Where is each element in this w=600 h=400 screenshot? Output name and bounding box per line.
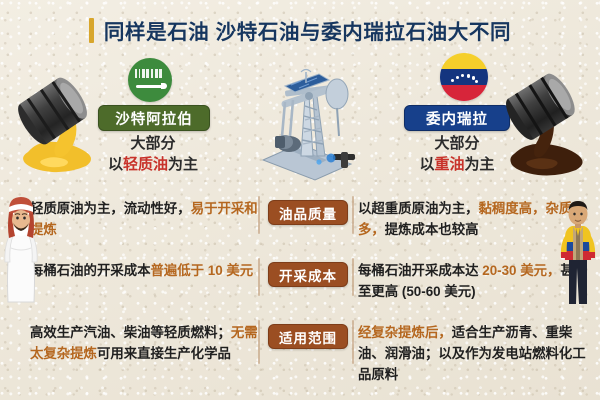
title-accent-bar	[89, 18, 94, 43]
saudi-summary: 大部分 以轻质油为主	[88, 133, 218, 175]
divider	[258, 258, 260, 296]
infographic-canvas: 同样是石油 沙特石油与委内瑞拉石油大不同	[0, 0, 600, 400]
flag-stripe-red	[440, 85, 488, 101]
flag-script	[134, 69, 166, 78]
category-pill-oil-quality: 油品质量	[268, 200, 348, 225]
highlighted-text: 经复杂提炼后，	[358, 325, 452, 340]
category-pill-extraction-cost: 开采成本	[268, 262, 348, 287]
page-title: 同样是石油 沙特石油与委内瑞拉石油大不同	[0, 13, 600, 47]
body-text: 提炼成本也较高	[385, 222, 479, 237]
category-pill-applications: 适用范围	[268, 324, 348, 349]
body-text: 每桶石油的开采成本	[30, 263, 151, 278]
saudi-arabia-flag-icon	[128, 58, 172, 102]
venezuela-flag-icon	[440, 53, 488, 101]
flag-sword	[136, 85, 164, 88]
flag-stripe-blue	[440, 69, 488, 85]
saudi-man-icon	[0, 190, 42, 305]
body-text: 高效生产汽油、柴油等轻质燃料；	[30, 325, 231, 340]
body-text: 每桶石油开采成本达	[358, 263, 482, 278]
title-text: 同样是石油 沙特石油与委内瑞拉石油大不同	[104, 15, 511, 45]
divider	[352, 258, 354, 296]
left-text-applications: 高效生产汽油、柴油等轻质燃料；无需太复杂提炼可用来直接生产化学品	[30, 322, 258, 364]
saudi-summary-line2: 以轻质油为主	[88, 154, 218, 175]
flag-stripe-yellow	[440, 53, 488, 69]
divider	[258, 196, 260, 234]
body-text: 可用来直接生产化学品	[97, 346, 231, 361]
divider	[352, 320, 354, 364]
saudi-summary-line1: 大部分	[88, 133, 218, 154]
country-badge-venezuela: 委内瑞拉	[404, 105, 510, 131]
highlighted-text: 普遍低于 10 美元	[151, 263, 254, 278]
oil-barrel-pouring-heavy-oil-icon	[500, 58, 598, 184]
venezuelan-man-icon	[556, 196, 600, 308]
left-text-extraction-cost: 每桶石油的开采成本普遍低于 10 美元	[30, 260, 258, 281]
divider	[352, 196, 354, 234]
divider	[258, 320, 260, 364]
highlighted-text: 20-30 美元，	[482, 263, 560, 278]
left-text-oil-quality: 轻质原油为主，流动性好，易于开采和提炼	[30, 198, 258, 240]
right-text-oil-quality: 以超重质原油为主，黏稠度高，杂质多，提炼成本也较高	[358, 198, 580, 240]
right-text-applications: 经复杂提炼后，适合生产沥青、重柴油、润滑油；以及作为发电站燃料化工品原料	[358, 322, 588, 385]
body-text: 轻质原油为主，流动性好，	[30, 201, 191, 216]
country-badge-saudi: 沙特阿拉伯	[98, 105, 210, 131]
right-text-extraction-cost: 每桶石油开采成本达 20-30 美元，甚至更高 (50-60 美元)	[358, 260, 580, 302]
body-text: 以超重质原油为主，	[358, 201, 479, 216]
oil-pumpjack-icon	[255, 52, 355, 182]
